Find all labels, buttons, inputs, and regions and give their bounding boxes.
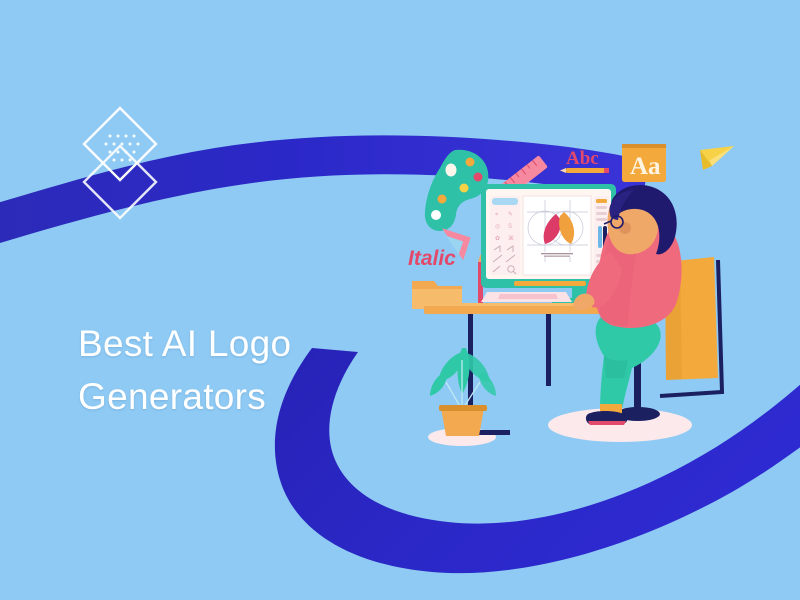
tool-panel: ⌖✎ ◎S ✿⌘ bbox=[490, 196, 520, 275]
banner-root: Best AI Logo Generators bbox=[0, 0, 800, 600]
svg-text:S: S bbox=[508, 224, 512, 230]
designer-illustration: ⌖✎ ◎S ✿⌘ bbox=[0, 0, 800, 600]
potted-plant bbox=[430, 348, 496, 436]
monitor-taskbar bbox=[514, 281, 586, 286]
svg-text:✿: ✿ bbox=[495, 235, 500, 242]
aa-tile: Aa bbox=[622, 144, 666, 182]
desk-leg-right bbox=[546, 314, 551, 386]
person-ear bbox=[619, 222, 631, 234]
paper-plane-icon bbox=[700, 146, 734, 170]
paint-palette-icon bbox=[425, 150, 488, 231]
italic-label: Italic bbox=[408, 247, 456, 270]
plant-leaves bbox=[430, 348, 496, 396]
plant-pot bbox=[441, 408, 484, 436]
logo-canvas-artwork bbox=[523, 196, 591, 275]
abc-label: Abc bbox=[566, 148, 599, 169]
svg-text:◎: ◎ bbox=[495, 224, 500, 230]
aa-label: Aa bbox=[630, 153, 661, 180]
chair-post bbox=[634, 360, 641, 408]
svg-text:✎: ✎ bbox=[508, 211, 513, 218]
svg-text:⌘: ⌘ bbox=[508, 235, 514, 242]
